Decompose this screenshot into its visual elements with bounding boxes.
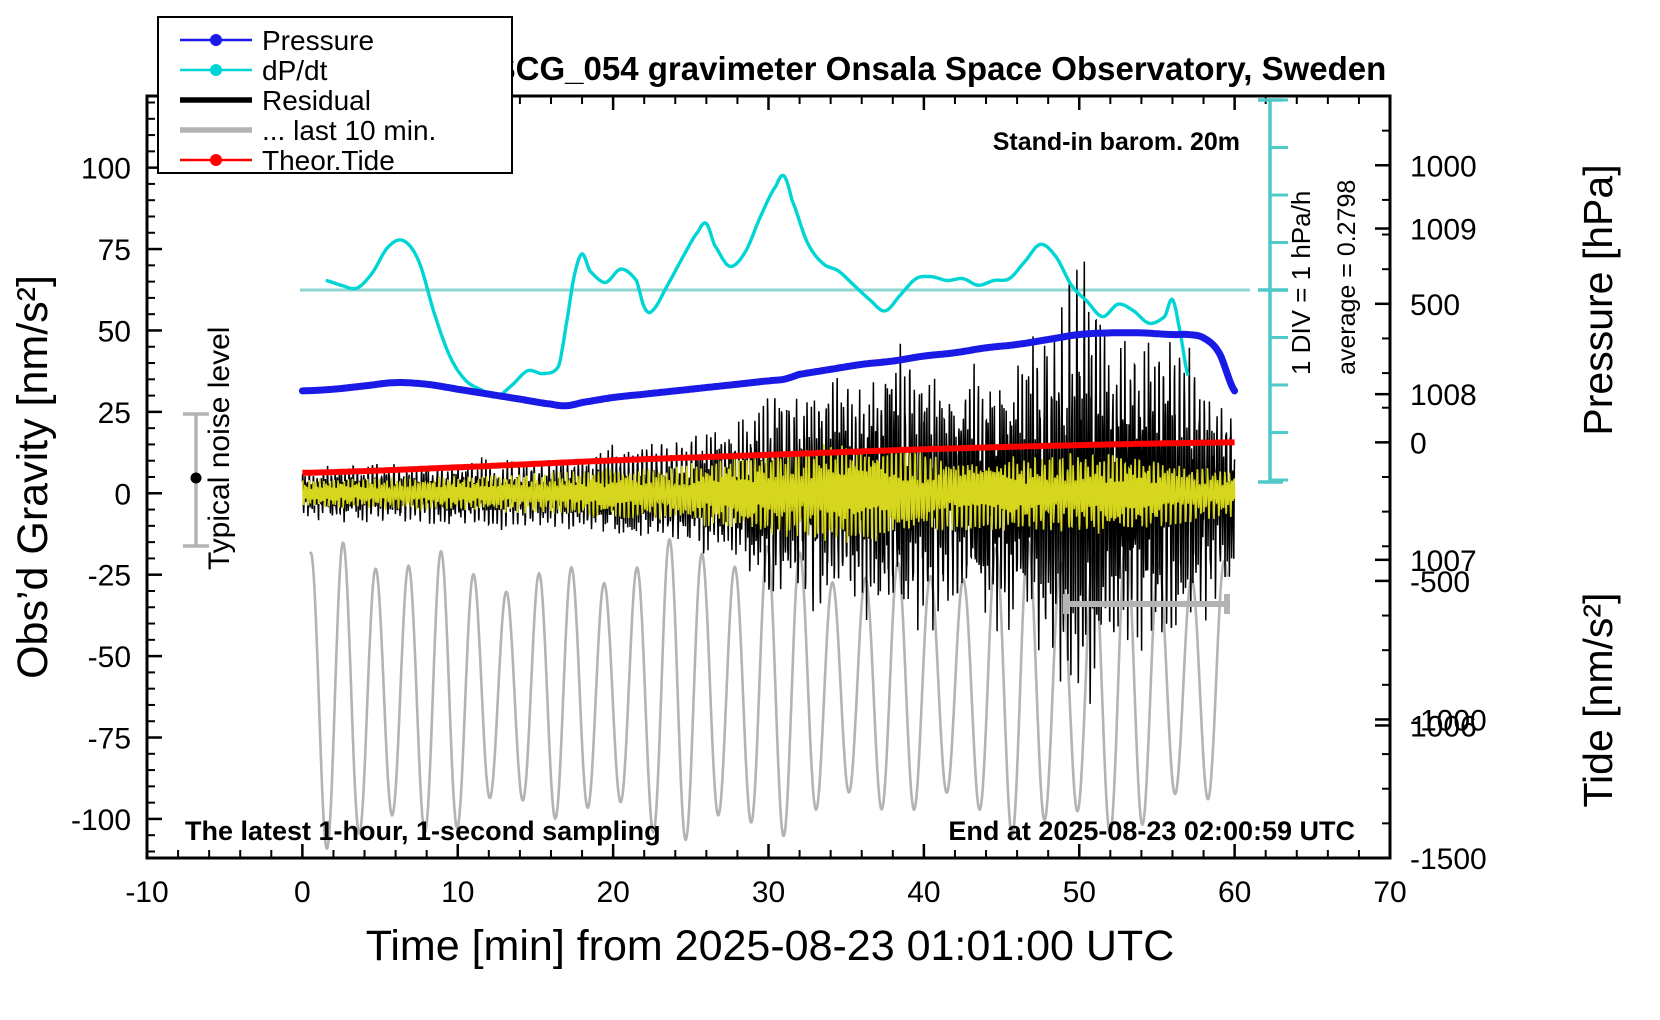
y-right-tide-tick-label: -1500	[1410, 843, 1487, 876]
y-right-bottom-axis-title: Tide [nm/s²]	[1575, 593, 1621, 808]
dpdt-scalebar	[1258, 100, 1288, 482]
x-tick-label: 40	[907, 876, 940, 909]
legend-item-label: Residual	[262, 85, 371, 116]
y-left-tick-label: 25	[98, 397, 131, 430]
x-tick-label: 50	[1063, 876, 1096, 909]
gravimeter-plot: -10010203040506070 1007550250-25-50-75-1…	[0, 0, 1660, 1020]
trace-dpdt	[326, 176, 1188, 397]
y-left-tick-label: 75	[98, 234, 131, 267]
y-left-tick-label: -50	[88, 641, 131, 674]
y-left-tick-label: -75	[88, 723, 131, 756]
standin-barom-label: Stand-in barom. 20m	[993, 128, 1240, 156]
legend-item-label: Pressure	[262, 25, 374, 56]
x-tick-label: 0	[294, 876, 311, 909]
legend-item-label: Theor.Tide	[262, 145, 395, 176]
y-left-tick-label: -25	[88, 560, 131, 593]
x-axis-title: Time [min] from 2025-08-23 01:01:00 UTC	[366, 922, 1175, 970]
y-left-tick-label: 0	[114, 478, 131, 511]
legend-item-label: ... last 10 min.	[262, 115, 436, 146]
y-right-tide-tick-label: -1000	[1410, 704, 1487, 737]
y-left-tick-label: 100	[81, 153, 131, 186]
legend-item-label: dP/dt	[262, 55, 328, 86]
footer-left-label: The latest 1-hour, 1-second sampling	[185, 816, 661, 846]
scalebar-div-label: 1 DIV = 1 hPa/h	[1286, 191, 1316, 375]
y-left-tick-label: 50	[98, 315, 131, 348]
y-left-axis-title: Obs’d Gravity [nm/s²]	[9, 275, 57, 679]
x-tick-label: 20	[596, 876, 629, 909]
x-tick-label: 30	[752, 876, 785, 909]
y-left-tick-label: -100	[71, 804, 131, 837]
y-right-tide-tick-label: -500	[1410, 566, 1470, 599]
y-right-tide-tick-label: 500	[1410, 289, 1460, 322]
footer-right-label: End at 2025-08-23 02:00:59 UTC	[948, 816, 1355, 846]
y-right-ticks: 100910081007100610005000-500-1000-1500	[1375, 96, 1487, 876]
scalebar-average-label: average = 0.2798	[1333, 180, 1361, 375]
x-tick-label: 70	[1373, 876, 1406, 909]
chart-title: SCG_054 gravimeter Onsala Space Observat…	[494, 50, 1387, 87]
y-right-tide-tick-label: 0	[1410, 427, 1427, 460]
y-right-top-axis-title: Pressure [hPa]	[1575, 164, 1621, 435]
y-right-pressure-tick-label: 1008	[1410, 379, 1477, 412]
x-tick-label: 60	[1218, 876, 1251, 909]
y-right-tide-tick-label: 1000	[1410, 150, 1477, 183]
data-traces	[300, 176, 1250, 849]
chart-canvas: -10010203040506070 1007550250-25-50-75-1…	[0, 0, 1660, 1020]
x-tick-label: 10	[441, 876, 474, 909]
typical-noise-level-label: Typical noise level	[203, 327, 236, 570]
y-right-pressure-tick-label: 1009	[1410, 214, 1477, 247]
x-tick-label: -10	[125, 876, 168, 909]
legend[interactable]: PressuredP/dtResidual... last 10 min.The…	[158, 17, 512, 176]
